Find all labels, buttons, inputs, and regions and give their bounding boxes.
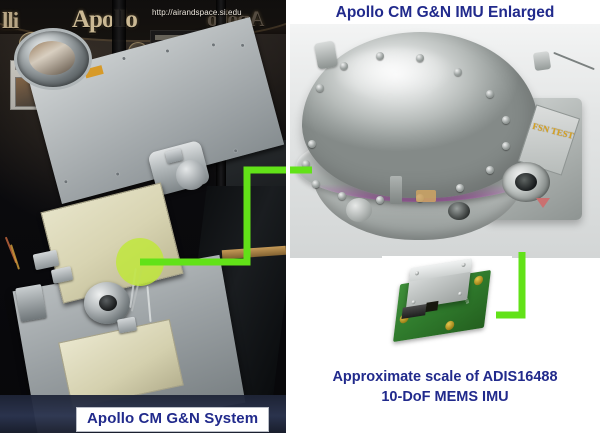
pcb-mounting-pad <box>445 320 455 331</box>
imu-red-index-marker <box>536 198 550 208</box>
imu-top-connector <box>533 51 551 71</box>
exhibit-sign-left: lli <box>2 8 18 34</box>
gn-optics-port <box>14 28 92 90</box>
imu-flange-bolt <box>486 166 494 174</box>
title-mems-scale: Approximate scale of ADIS16488 10-DoF ME… <box>290 368 600 407</box>
imu-specular-highlight <box>336 48 456 100</box>
imu-flange-bolt <box>456 184 464 192</box>
imu-flange-bolt <box>338 192 346 200</box>
imu-connector-bore <box>515 173 537 191</box>
imu-main-connector-port <box>502 162 550 202</box>
imu-flange-bolt <box>340 62 348 70</box>
title-mems-scale-line1: Approximate scale of ADIS16488 <box>332 369 557 385</box>
apollo-gn-system-photo: lli Apollo Apollo <box>0 0 286 433</box>
imu-top-left-connector <box>314 40 338 69</box>
cable-connector <box>15 284 47 322</box>
imu-flange-bolt <box>316 84 324 92</box>
imu-dial-fitting <box>346 198 372 222</box>
title-mems-scale-line2: 10-DoF MEMS IMU <box>381 389 508 405</box>
imu-flange-bolt <box>454 68 462 76</box>
imu-antenna-wire <box>553 52 595 70</box>
imu-flange-bolt <box>312 180 320 188</box>
imu-side-slot <box>390 176 402 204</box>
imu-flange-bolt <box>302 160 310 168</box>
imu-flange-bolt <box>308 140 316 148</box>
imu-scale-comparison-figure: lli Apollo Apollo <box>0 0 600 439</box>
exhibit-sign-apollo: Apollo <box>72 6 137 34</box>
imu-flange-bolt <box>502 116 510 124</box>
imu-flange-bolt <box>486 90 494 98</box>
pcb-mounting-pad <box>474 275 484 286</box>
imu-flange-bolt <box>376 196 384 204</box>
imu-flange-bolt <box>376 52 384 60</box>
gn-optics-lens <box>29 41 75 75</box>
watermark-url-left: http://airandspace.si.edu <box>152 8 242 17</box>
imu-lower-port <box>448 202 470 220</box>
caption-apollo-gn-system: Apollo CM G&N System <box>76 407 269 432</box>
imu-flange-bolt <box>502 142 510 150</box>
gn-round-knob <box>176 160 206 190</box>
gn-gimbal-bore <box>99 295 117 311</box>
imu-label-text: FSN TEST <box>531 121 574 141</box>
apollo-imu-photo: FSN TEST http://airandspace.si.edu <box>290 24 600 258</box>
imu-tan-marking <box>416 190 436 202</box>
title-imu-enlarged: Apollo CM G&N IMU Enlarged <box>290 4 600 22</box>
imu-flange-bolt <box>416 54 424 62</box>
mems-imu-photo: ADIS16488 <box>382 256 512 348</box>
